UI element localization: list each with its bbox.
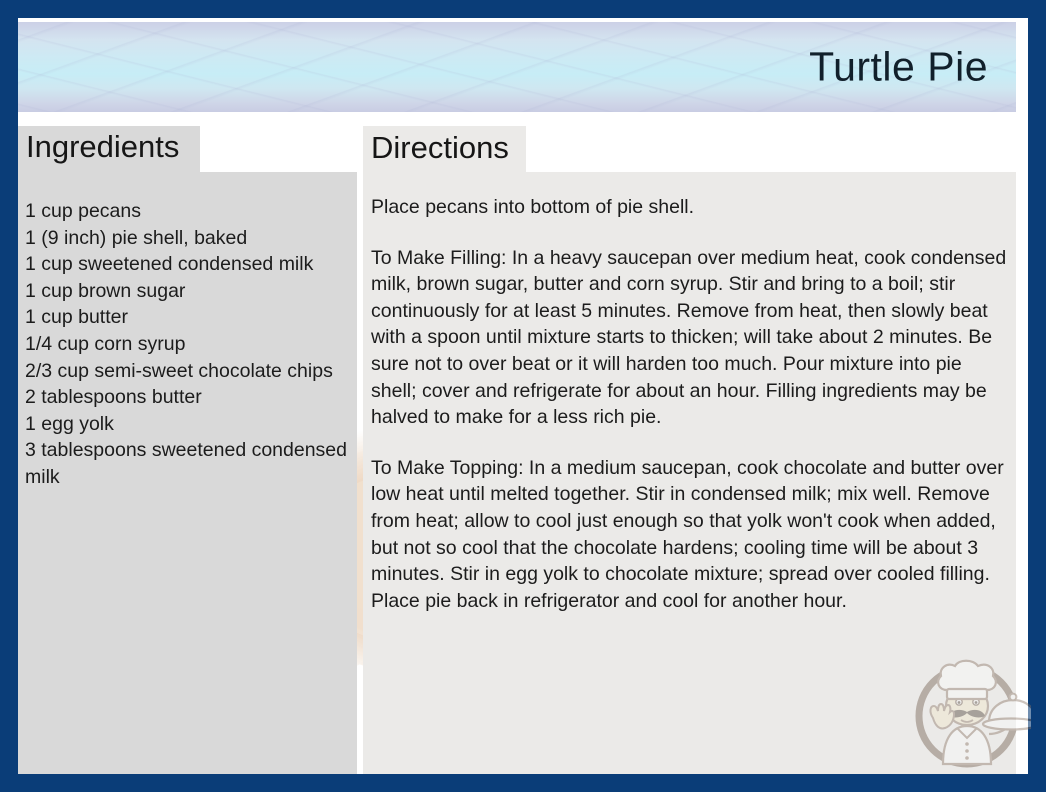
directions-section: Directions Place pecans into bottom of p… bbox=[363, 126, 1016, 774]
ingredient-item: 2/3 cup semi-sweet chocolate chips bbox=[25, 358, 351, 385]
ingredient-item: 1 cup butter bbox=[25, 304, 351, 331]
ingredients-panel: 1 cup pecans1 (9 inch) pie shell, baked1… bbox=[18, 172, 357, 774]
ingredient-item: 1 egg yolk bbox=[25, 411, 351, 438]
direction-paragraph: To Make Filling: In a heavy saucepan ove… bbox=[371, 245, 1011, 431]
recipe-card: Turtle Pie bbox=[0, 0, 1046, 792]
ingredients-heading: Ingredients bbox=[26, 129, 179, 165]
ingredient-item: 1/4 cup corn syrup bbox=[25, 331, 351, 358]
ingredient-item: 3 tablespoons sweetened condensed milk bbox=[25, 437, 351, 490]
directions-text: Place pecans into bottom of pie shell.To… bbox=[371, 194, 1011, 614]
page-title: Turtle Pie bbox=[809, 44, 988, 91]
ingredients-section: Ingredients 1 cup pecans1 (9 inch) pie s… bbox=[18, 126, 357, 774]
ingredient-item: 1 cup brown sugar bbox=[25, 278, 351, 305]
header-banner: Turtle Pie bbox=[18, 22, 1016, 112]
ingredient-item: 1 cup sweetened condensed milk bbox=[25, 251, 351, 278]
directions-panel: Place pecans into bottom of pie shell.To… bbox=[363, 172, 1016, 774]
ingredient-item: 2 tablespoons butter bbox=[25, 384, 351, 411]
directions-heading: Directions bbox=[371, 130, 509, 166]
recipe-page: Turtle Pie bbox=[18, 18, 1028, 774]
ingredient-item: 1 cup pecans bbox=[25, 198, 351, 225]
ingredients-list: 1 cup pecans1 (9 inch) pie shell, baked1… bbox=[25, 198, 351, 491]
ingredient-item: 1 (9 inch) pie shell, baked bbox=[25, 225, 351, 252]
direction-paragraph: To Make Topping: In a medium saucepan, c… bbox=[371, 455, 1011, 615]
direction-paragraph: Place pecans into bottom of pie shell. bbox=[371, 194, 1011, 221]
